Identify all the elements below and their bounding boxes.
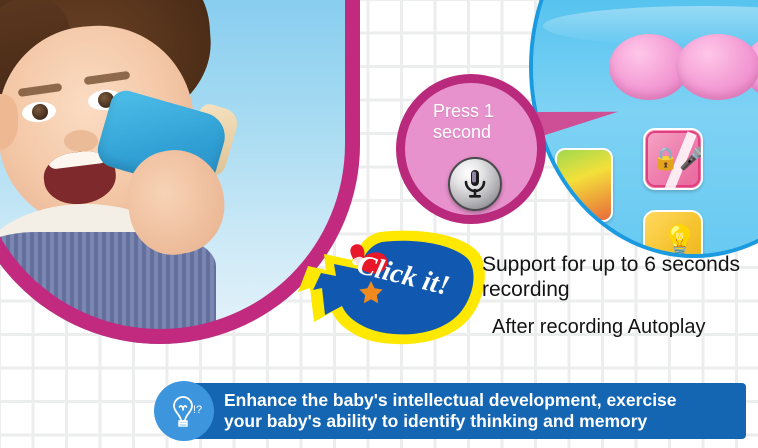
banner-line-1: Enhance the baby's intellectual developm… xyxy=(224,390,677,411)
device-bow-button[interactable] xyxy=(609,34,758,100)
press-callout-label: Press 1 second xyxy=(433,101,545,143)
support-recording-text: Support for up to 6 seconds recording xyxy=(482,252,742,302)
device-lightbulb-key[interactable]: 💡 xyxy=(643,210,703,258)
banner-text: Enhance the baby's intellectual developm… xyxy=(224,390,677,432)
microphone-button-icon[interactable] xyxy=(448,157,502,211)
device-picture-card-key-1[interactable] xyxy=(555,148,613,222)
svg-text:!?: !? xyxy=(193,404,202,416)
baby-nose xyxy=(64,130,98,152)
lock-icon: 🔒 xyxy=(652,148,679,170)
bottom-benefit-banner: !? Enhance the baby's intellectual devel… xyxy=(158,383,746,439)
bow-lobe-center xyxy=(676,34,758,100)
press-duration-callout: Press 1 second xyxy=(396,74,546,224)
click-it-arrow[interactable]: Click it! xyxy=(292,226,492,350)
banner-line-2: your baby's ability to identify thinking… xyxy=(224,411,677,432)
autoplay-text: After recording Autoplay xyxy=(492,316,758,339)
device-record-lock-key[interactable]: 🔒 🎤 xyxy=(643,128,703,190)
microphone-icon: 🎤 xyxy=(679,148,703,170)
banner-lightbulb-icon: !? xyxy=(154,381,214,441)
